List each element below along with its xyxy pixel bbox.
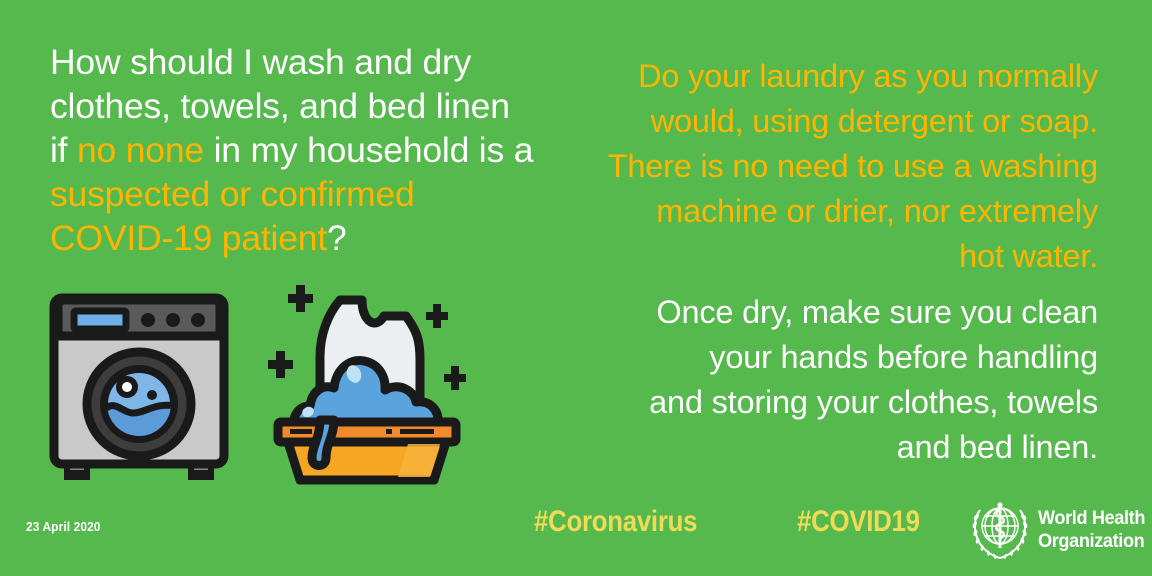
answer-amber-line-5: hot water. bbox=[586, 234, 1098, 279]
answer-white-line-3: and storing your clothes, towels bbox=[586, 380, 1098, 425]
who-wordmark: World Health Organization bbox=[1038, 507, 1145, 552]
question-line-3: if no none in my household is a bbox=[50, 128, 580, 172]
washing-machine-illustration bbox=[44, 286, 234, 491]
date-stamp: 23 April 2020 bbox=[26, 519, 101, 534]
washer-knob-3 bbox=[191, 313, 205, 327]
question-line-5: COVID-19 patient? bbox=[50, 216, 580, 260]
sparkle-icon-3 bbox=[268, 351, 293, 378]
question-line-1-text: How should I wash and dry bbox=[50, 42, 471, 82]
hashtag-covid19[interactable]: #COVID19 bbox=[797, 505, 920, 539]
who-wordmark-line-2: Organization bbox=[1038, 530, 1145, 553]
washer-bubble-large bbox=[119, 379, 135, 395]
question-line-2-text: clothes, towels, and bed linen bbox=[50, 86, 510, 126]
question-line-5-suffix: ? bbox=[327, 218, 347, 258]
answer-amber-line-4: machine or drier, nor extremely bbox=[586, 189, 1098, 234]
who-logo: World Health Organization bbox=[968, 498, 1138, 564]
who-covid-infographic-poster: How should I wash and dry clothes, towel… bbox=[0, 0, 1152, 576]
sparkle-icon-2 bbox=[426, 304, 448, 328]
question-line-3-highlight: no none bbox=[77, 130, 204, 170]
who-emblem-icon bbox=[968, 498, 1032, 562]
answer-amber-line-3: There is no need to use a washing bbox=[586, 144, 1098, 189]
answer-secondary-white: Once dry, make sure you clean your hands… bbox=[586, 290, 1098, 470]
answer-white-line-2: your hands before handling bbox=[586, 335, 1098, 380]
question-line-2: clothes, towels, and bed linen bbox=[50, 84, 580, 128]
question-line-5-highlight: COVID-19 patient bbox=[50, 218, 327, 258]
answer-amber-line-2: would, using detergent or soap. bbox=[586, 99, 1098, 144]
question-heading: How should I wash and dry clothes, towel… bbox=[50, 40, 580, 260]
answer-amber-line-1: Do your laundry as you normally bbox=[586, 54, 1098, 99]
answer-white-line-1: Once dry, make sure you clean bbox=[586, 290, 1098, 335]
question-line-3-suffix: in my household is a bbox=[204, 130, 533, 170]
question-line-4-highlight: suspected or confirmed bbox=[50, 174, 415, 214]
who-wordmark-line-1: World Health bbox=[1038, 507, 1145, 530]
washer-knob-2 bbox=[166, 313, 180, 327]
question-line-1: How should I wash and dry bbox=[50, 40, 580, 84]
washer-bubble-small bbox=[147, 390, 157, 400]
laundry-basket-illustration bbox=[258, 282, 480, 494]
washer-knob-1 bbox=[141, 313, 155, 327]
hashtag-coronavirus[interactable]: #Coronavirus bbox=[534, 505, 697, 539]
question-line-3-prefix: if bbox=[50, 130, 77, 170]
question-line-4: suspected or confirmed bbox=[50, 172, 580, 216]
answer-primary-amber: Do your laundry as you normally would, u… bbox=[586, 54, 1098, 279]
answer-white-line-4: and bed linen. bbox=[586, 425, 1098, 470]
sparkle-icon-4 bbox=[444, 366, 466, 390]
sparkle-icon-1 bbox=[288, 285, 313, 312]
